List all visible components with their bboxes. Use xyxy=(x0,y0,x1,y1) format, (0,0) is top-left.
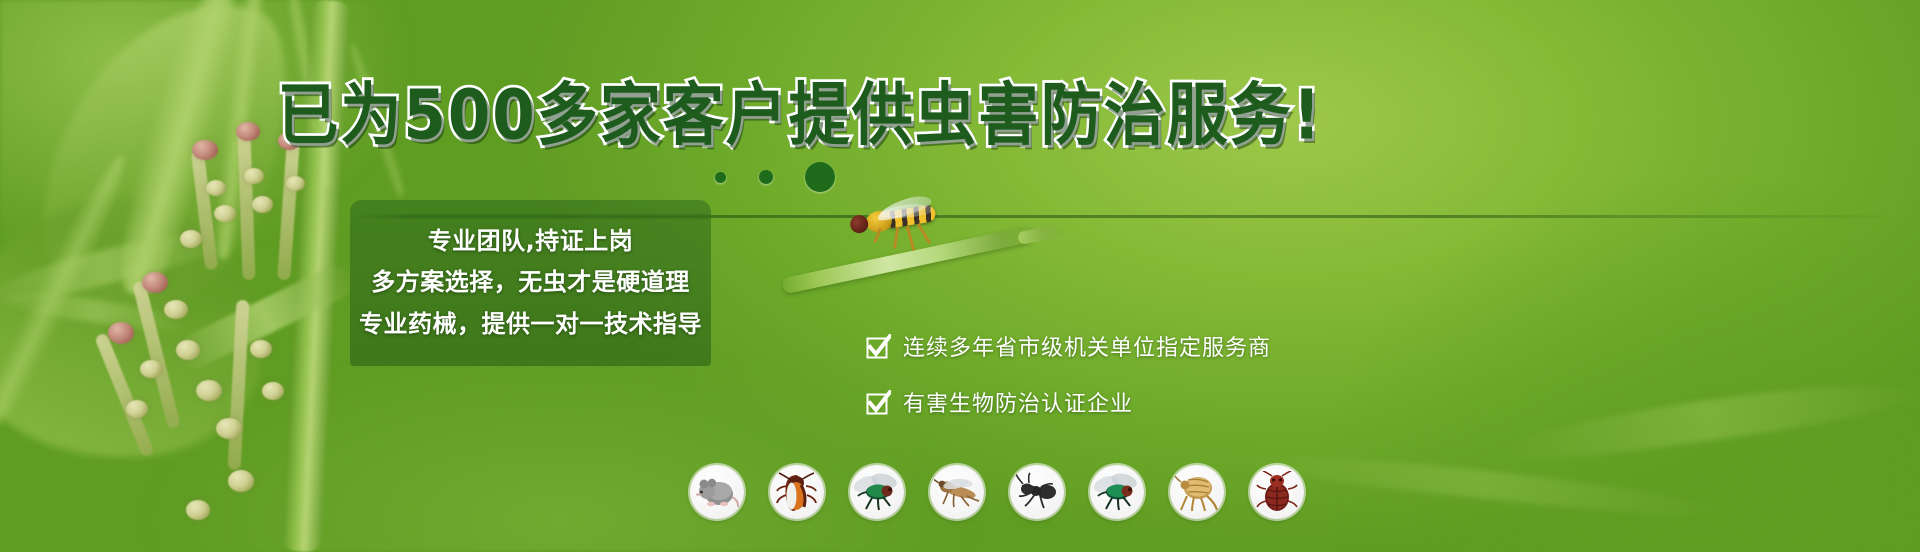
bedbug-icon[interactable] xyxy=(1250,465,1304,519)
claim-line: 专业团队,持证上岗 xyxy=(428,223,634,260)
fly-icon[interactable] xyxy=(850,465,904,519)
mosquito-icon[interactable] xyxy=(930,465,984,519)
flea-icon[interactable] xyxy=(1170,465,1224,519)
hoverfly-photo xyxy=(770,190,1100,300)
list-item: 有害生物防治认证企业 xyxy=(866,386,1326,418)
claim-line: 专业药械，提供一对一技术指导 xyxy=(359,306,702,343)
list-item-label: 连续多年省市级机关单位指定服务商 xyxy=(903,330,1271,362)
claim-line: 多方案选择，无虫才是硬道理 xyxy=(371,264,690,301)
page-title-text: 已为500多家客户提供虫害防治服务! xyxy=(277,81,1322,149)
cockroach-icon[interactable] xyxy=(770,465,824,519)
ant-icon[interactable] xyxy=(1010,465,1064,519)
promotional-banner: 已为500多家客户提供虫害防治服务! 专业团队,持证上岗 多方案选择，无虫才是硬… xyxy=(0,0,1920,552)
bullet-list: 连续多年省市级机关单位指定服务商 有害生物防治认证企业 xyxy=(866,330,1326,418)
blowfly-icon[interactable] xyxy=(1090,465,1144,519)
decorative-dots xyxy=(715,160,835,194)
pest-icon-row xyxy=(690,465,1304,519)
dot-small-icon xyxy=(715,172,726,183)
dot-medium-icon xyxy=(759,170,773,184)
hoverfly-icon xyxy=(861,203,936,238)
claims-list: 专业团队,持证上岗 多方案选择，无虫才是硬道理 专业药械，提供一对一技术指导 xyxy=(350,200,711,366)
list-item: 连续多年省市级机关单位指定服务商 xyxy=(866,330,1326,362)
dot-large-icon xyxy=(805,162,835,192)
list-item-label: 有害生物防治认证企业 xyxy=(903,386,1133,418)
page-title: 已为500多家客户提供虫害防治服务! xyxy=(300,78,1300,152)
rodent-icon[interactable] xyxy=(690,465,744,519)
check-box-icon xyxy=(866,334,891,359)
check-box-icon xyxy=(866,390,891,415)
